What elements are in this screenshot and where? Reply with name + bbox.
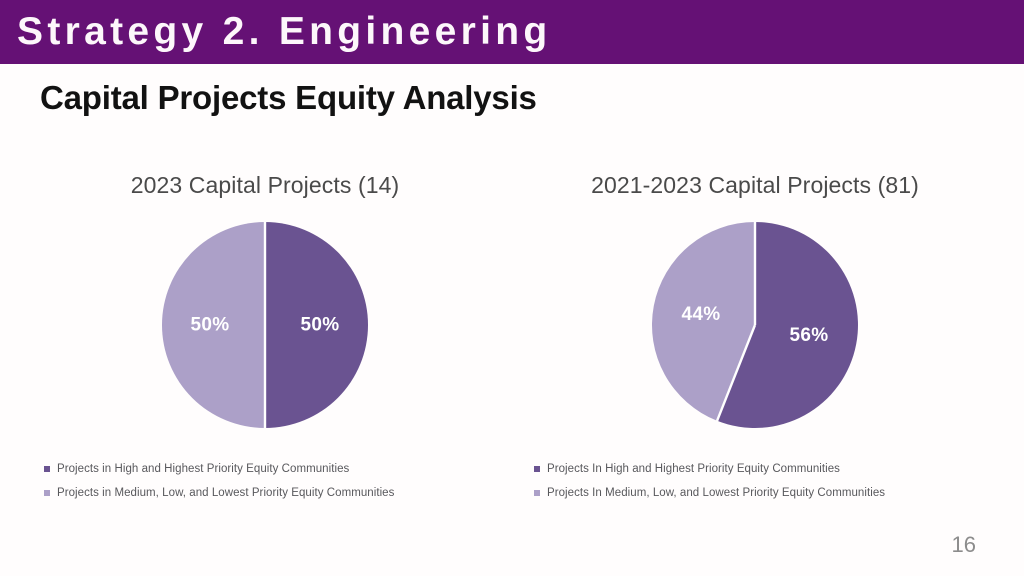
slide-page-number: 16: [952, 532, 976, 558]
page-title: Strategy 2. Engineering: [17, 6, 552, 58]
pie-slice-label-high-priority: 50%: [301, 315, 340, 336]
header-band: Strategy 2. Engineering: [0, 0, 1024, 64]
pie-slice-label-medium-low-priority: 50%: [191, 315, 230, 336]
chart-panel-2023: 2023 Capital Projects (14) 50% 50% Proje…: [30, 170, 500, 505]
legend-item[interactable]: Projects In Medium, Low, and Lowest Prio…: [534, 481, 990, 505]
legend-2023: Projects in High and Highest Priority Eq…: [30, 457, 500, 505]
legend-item-label: Projects In Medium, Low, and Lowest Prio…: [547, 487, 885, 499]
legend-item[interactable]: Projects in High and Highest Priority Eq…: [44, 457, 500, 481]
legend-item-label: Projects In High and Highest Priority Eq…: [547, 463, 840, 475]
legend-swatch-icon: [44, 490, 50, 496]
chart-panel-2021-2023: 2021-2023 Capital Projects (81) 56% 44% …: [520, 170, 990, 505]
legend-2021-2023: Projects In High and Highest Priority Eq…: [520, 457, 990, 505]
pie-chart-2023: 50% 50%: [30, 217, 500, 433]
legend-swatch-icon: [44, 466, 50, 472]
pie-chart-2021-2023: 56% 44%: [520, 217, 990, 433]
chart-title-2021-2023: 2021-2023 Capital Projects (81): [520, 170, 990, 206]
pie-chart-2021-2023-svg: 56% 44%: [647, 217, 863, 433]
pie-chart-2023-svg: 50% 50%: [157, 217, 373, 433]
legend-item[interactable]: Projects In High and Highest Priority Eq…: [534, 457, 990, 481]
legend-swatch-icon: [534, 466, 540, 472]
chart-title-2023: 2023 Capital Projects (14): [30, 170, 500, 206]
pie-slice-label-medium-low-priority: 44%: [682, 304, 721, 325]
pie-slice-label-high-priority: 56%: [790, 325, 829, 346]
slide-subtitle: Capital Projects Equity Analysis: [40, 79, 537, 117]
legend-item-label: Projects in Medium, Low, and Lowest Prio…: [57, 487, 394, 499]
legend-item-label: Projects in High and Highest Priority Eq…: [57, 463, 349, 475]
legend-swatch-icon: [534, 490, 540, 496]
legend-item[interactable]: Projects in Medium, Low, and Lowest Prio…: [44, 481, 500, 505]
